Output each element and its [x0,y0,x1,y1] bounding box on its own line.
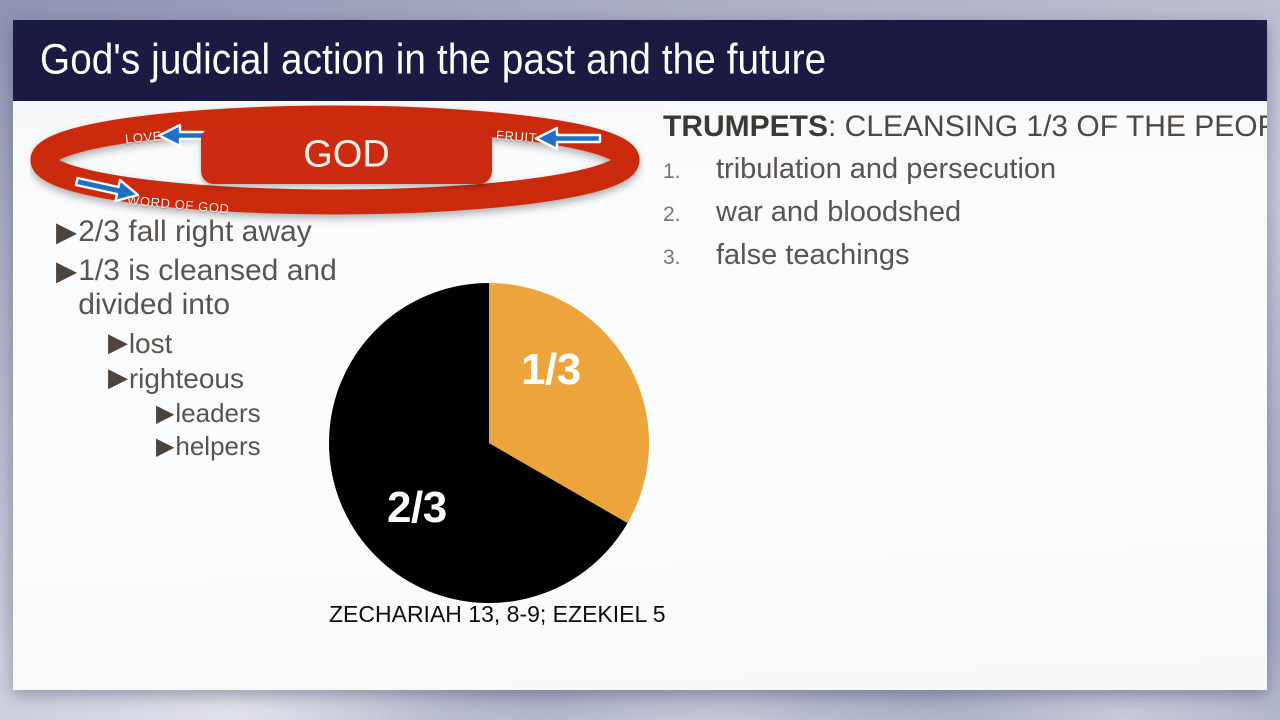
triangle-bullet-icon: ▶ [156,399,174,428]
list-item-label: lost [129,328,358,360]
trumpets-heading: TRUMPETS: CLEANSING 1/3 OF THE PEOPLE [663,110,1253,143]
list-item-label: righteous [129,363,358,395]
presentation-slide: God's judicial action in the past and th… [13,20,1267,690]
numbered-list-item: 1. tribulation and persecution [663,154,1253,186]
list-item-label: false teachings [716,240,1253,272]
list-item-number: 2. [663,203,716,226]
list-item-label: war and bloodshed [716,197,1253,229]
numbered-list-item: 2. war and bloodshed [663,197,1253,229]
triangle-bullet-icon: ▶ [108,363,128,394]
triangle-bullet-icon: ▶ [56,254,77,288]
list-item-label: 2/3 fall right away [78,215,358,249]
pie-label-one-third: 1/3 [521,348,581,392]
left-bullet-list: ▶ 2/3 fall right away ▶ 1/3 is cleansed … [38,215,358,465]
list-item-number: 1. [663,160,716,183]
list-item: ▶ 2/3 fall right away [56,215,358,249]
numbered-list-item: 3. false teachings [663,240,1253,272]
pie-chart-caption: ZECHARIAH 13, 8-9; EZEKIEL 5 [329,603,649,626]
page-title: God's judicial action in the past and th… [40,38,826,81]
list-item: ▶ helpers [156,432,358,462]
god-cycle-diagram: GOD LOVE FRUIT WORD OF GOD [30,102,655,227]
list-item: ▶ leaders [156,399,358,429]
trumpets-heading-bold: TRUMPETS [663,110,828,143]
list-item-label: tribulation and persecution [716,154,1253,186]
list-item: ▶ righteous [108,363,358,395]
desktop-background: God's judicial action in the past and th… [0,0,1280,720]
triangle-bullet-icon: ▶ [56,215,77,249]
triangle-bullet-icon: ▶ [108,328,128,359]
list-item: ▶ lost [108,328,358,360]
list-item-label: 1/3 is cleansed and divided into [78,254,358,322]
slide-title-bar: God's judicial action in the past and th… [13,20,1267,101]
god-box-label: GOD [201,135,492,173]
pie-chart: 1/3 2/3 [329,283,649,603]
pie-label-two-thirds: 2/3 [387,486,447,530]
god-box: GOD [201,127,492,184]
right-column: TRUMPETS: CLEANSING 1/3 OF THE PEOPLE 1.… [663,110,1253,283]
list-item-number: 3. [663,246,716,269]
trumpets-heading-rest: : CLEANSING 1/3 OF THE PEOPLE [828,110,1267,143]
list-item: ▶ 1/3 is cleansed and divided into [56,254,358,322]
triangle-bullet-icon: ▶ [156,432,174,461]
cycle-label-fruit: FRUIT [496,128,538,146]
